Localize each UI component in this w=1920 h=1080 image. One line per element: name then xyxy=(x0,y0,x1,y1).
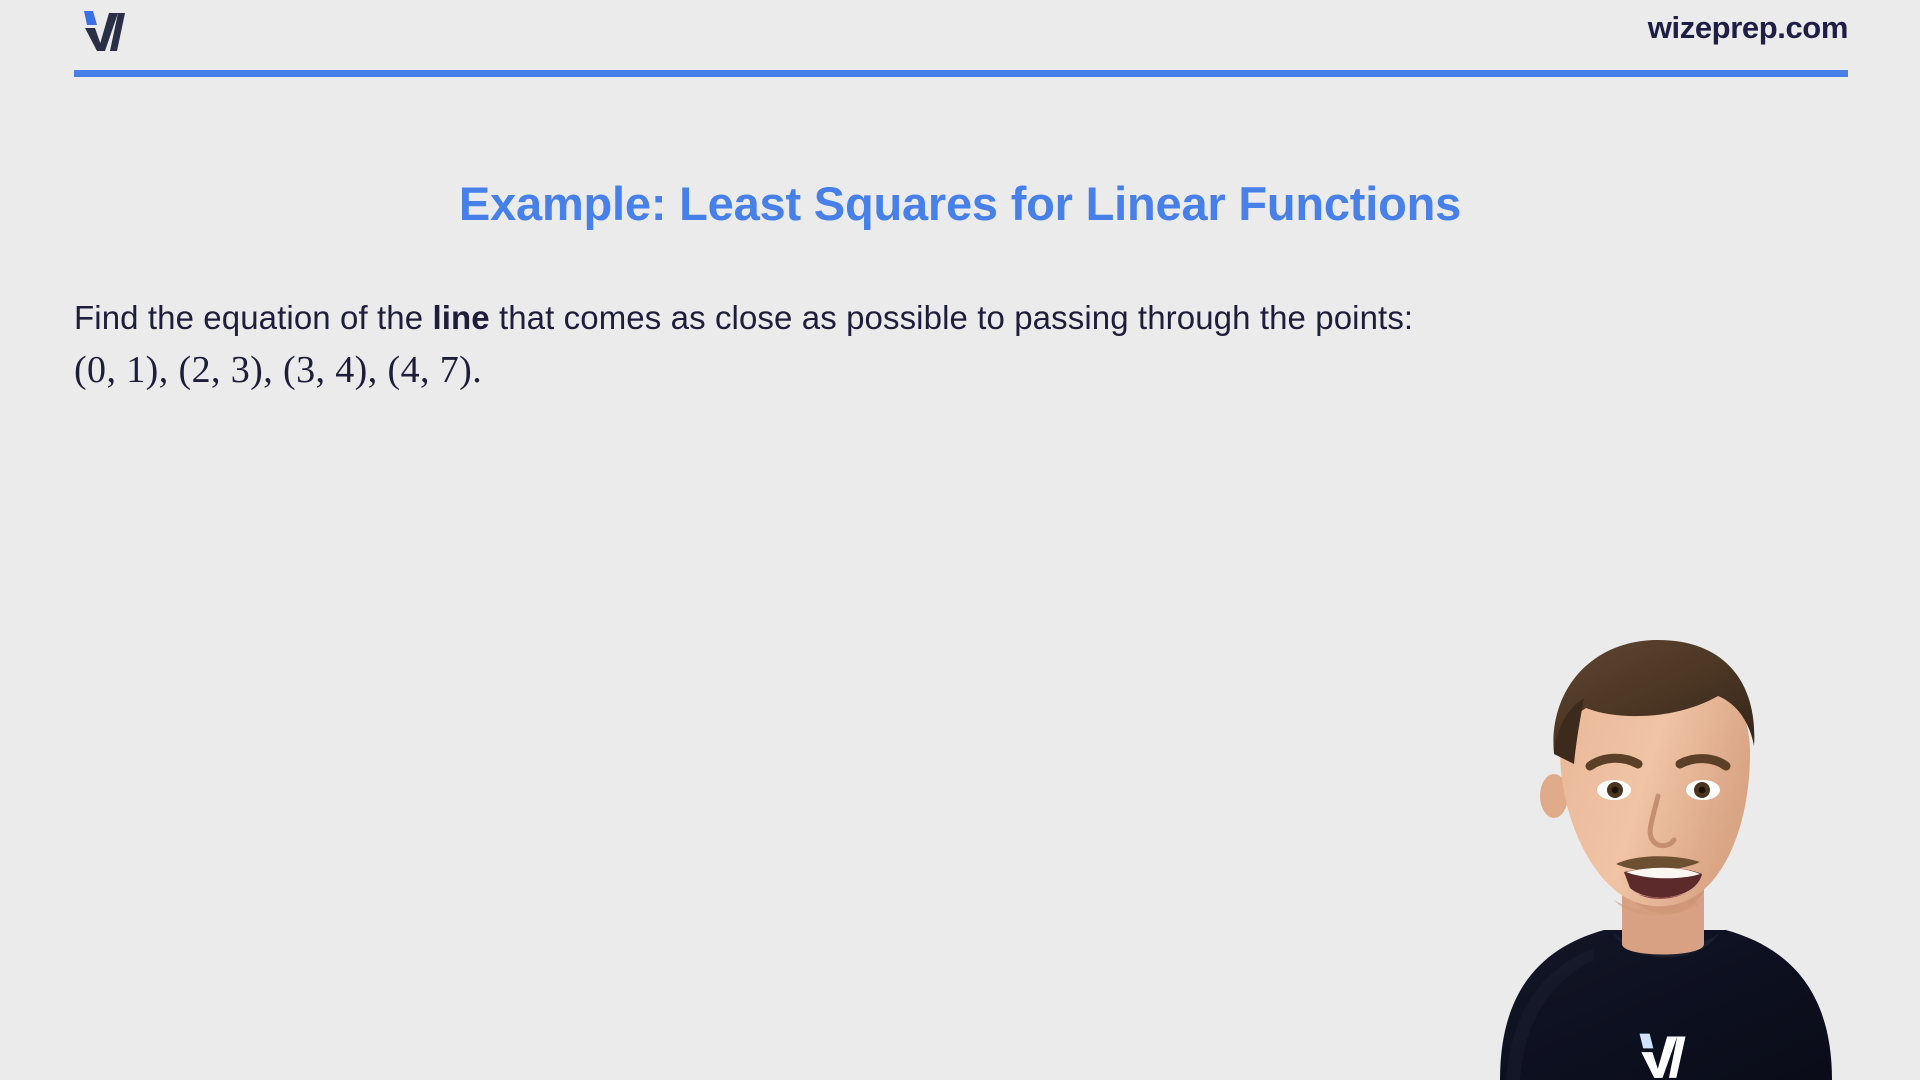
slide-body: Find the equation of the line that comes… xyxy=(74,294,1714,393)
problem-statement-part-1: Find the equation of the xyxy=(74,299,432,336)
page-title: Example: Least Squares for Linear Functi… xyxy=(0,176,1920,232)
presenter-video-cutout xyxy=(1408,600,1920,1080)
wizeprep-w-logo-icon xyxy=(72,6,134,54)
problem-statement: Find the equation of the line that comes… xyxy=(74,294,1714,341)
presenter-head xyxy=(1540,640,1754,916)
slide-header: wizeprep.com xyxy=(0,0,1920,82)
brand-domain-text: wizeprep.com xyxy=(1648,7,1848,49)
problem-statement-emphasis: line xyxy=(432,299,489,336)
points-math-expression: (0, 1), (2, 3), (3, 4), (4, 7). xyxy=(74,347,1714,393)
problem-statement-part-2: that comes as close as possible to passi… xyxy=(490,299,1414,336)
slide-canvas: wizeprep.com Example: Least Squares for … xyxy=(0,0,1920,1080)
header-divider-rule xyxy=(74,70,1848,77)
